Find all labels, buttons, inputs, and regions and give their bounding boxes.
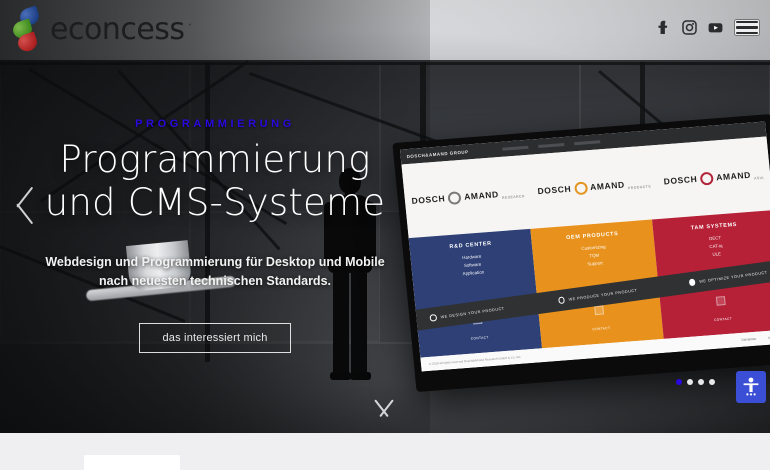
logo-subtitle: ASIA xyxy=(754,175,764,180)
hero-eyebrow: PROGRAMMIERUNG xyxy=(0,118,430,130)
footer-link-disclaimer[interactable]: Disclaimer xyxy=(741,337,756,342)
page-root: DOSCH&AMAND GROUP DOSCH AMAND RESEARCH D… xyxy=(0,0,770,470)
slider-dot-1[interactable] xyxy=(676,379,682,385)
logo-left-text: DOSCH xyxy=(537,184,572,197)
step-dot-icon xyxy=(689,279,696,286)
contact-label: CONTACT xyxy=(714,317,732,322)
content-card xyxy=(84,455,180,470)
logo-right-text: AMAND xyxy=(464,189,500,202)
mail-icon xyxy=(595,305,605,315)
headline-line-1: Programmierung xyxy=(59,138,370,181)
logo-ring-icon xyxy=(448,191,462,205)
brand-mark: ´ xyxy=(189,23,193,35)
logo-subtitle: PRODUCTS xyxy=(628,184,651,190)
subtitle-line-2: nach neuesten technischen Standards. xyxy=(99,274,331,288)
monitor-bezel: DOSCH&AMAND GROUP DOSCH AMAND RESEARCH D… xyxy=(392,114,770,392)
youtube-icon[interactable] xyxy=(708,20,723,35)
showcase-logo: DOSCH AMAND ASIA xyxy=(663,167,764,188)
hero-slider: DOSCH&AMAND GROUP DOSCH AMAND RESEARCH D… xyxy=(0,0,770,433)
panel-contact-button[interactable]: CONTACT xyxy=(590,305,611,335)
slider-dot-4[interactable] xyxy=(709,379,715,385)
hero-subtitle: Webdesign und Programmierung für Desktop… xyxy=(0,253,430,292)
panel-items: DECT CAT-iq ULE xyxy=(654,230,770,264)
scroll-down-chevron-icon[interactable] xyxy=(362,400,406,422)
logo-right-text: AMAND xyxy=(716,170,752,183)
logo-left-text: DOSCH xyxy=(663,174,698,187)
slider-prev-arrow-icon[interactable] xyxy=(4,182,30,228)
showcase-nav-links[interactable] xyxy=(502,140,600,151)
step-dot-icon xyxy=(558,297,565,304)
next-section xyxy=(0,433,770,470)
slider-pagination xyxy=(676,379,715,385)
step-label: WE DESIGN YOUR PRODUCT xyxy=(441,306,505,319)
footer-links: Disclaimer Imprint xyxy=(741,335,770,342)
mail-icon xyxy=(716,296,726,306)
hero-content: PROGRAMMIERUNG Programmierung und CMS-Sy… xyxy=(0,118,430,353)
hamburger-menu-icon[interactable] xyxy=(734,19,760,36)
logo-right-text: AMAND xyxy=(590,179,626,192)
contact-label: CONTACT xyxy=(471,335,489,340)
instagram-icon[interactable] xyxy=(682,20,697,35)
contact-label: CONTACT xyxy=(592,326,610,331)
step-label: WE PRODUCE YOUR PRODUCT xyxy=(569,288,638,301)
logo-ring-icon xyxy=(574,181,588,195)
subtitle-line-1: Webdesign und Programmierung für Desktop… xyxy=(45,255,384,269)
page-title: Programmierung und CMS-Systeme xyxy=(0,138,430,225)
logo-ring-icon xyxy=(700,171,714,185)
panel-items: Customizing TQM Support xyxy=(532,239,656,273)
red-droplet-icon xyxy=(18,34,37,51)
panel-contact-button[interactable]: CONTACT xyxy=(712,296,733,326)
slider-dot-2[interactable] xyxy=(687,379,693,385)
cta-button[interactable]: das interessiert mich xyxy=(139,323,290,353)
accessibility-person-icon xyxy=(742,377,760,397)
slider-dot-3[interactable] xyxy=(698,379,704,385)
logo-subtitle: RESEARCH xyxy=(502,194,525,200)
step-label: WE OPTIMIZE YOUR PRODUCT xyxy=(699,270,768,283)
monitor-mockup: DOSCH&AMAND GROUP DOSCH AMAND RESEARCH D… xyxy=(392,114,770,392)
logo-droplets-icon xyxy=(12,7,46,51)
step-dot-icon xyxy=(430,314,437,321)
facebook-icon[interactable] xyxy=(656,20,671,35)
brand-name: econcess xyxy=(50,12,185,47)
accessibility-button[interactable] xyxy=(736,371,766,403)
site-header: econcess ´ xyxy=(0,0,770,58)
header-actions xyxy=(656,19,760,36)
showcase-website: DOSCH&AMAND GROUP DOSCH AMAND RESEARCH D… xyxy=(400,122,770,372)
showcase-logo: DOSCH AMAND PRODUCTS xyxy=(537,176,651,198)
headline-line-2: und CMS-Systeme xyxy=(45,181,385,224)
brand-logo[interactable]: econcess ´ xyxy=(12,7,192,51)
